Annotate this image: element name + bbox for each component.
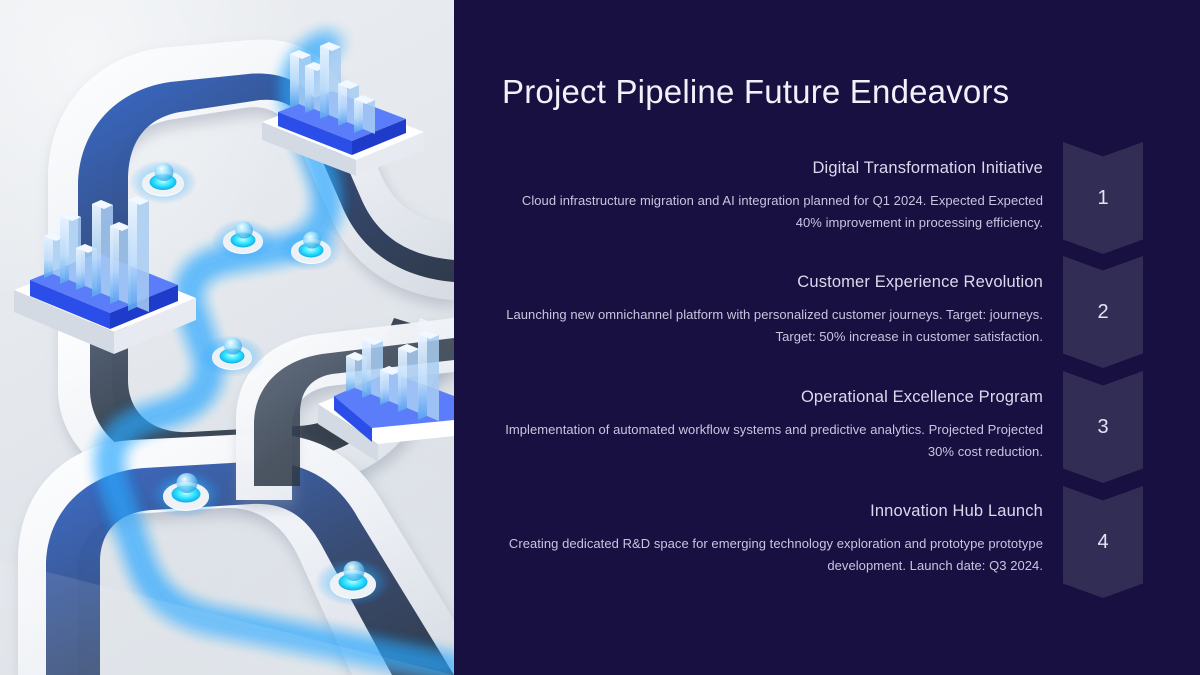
item-description: Implementation of automated workflow sys… [503, 419, 1043, 463]
slide-root: Project Pipeline Future Endeavors Digita… [0, 0, 1200, 675]
list-item: Customer Experience Revolution Launching… [503, 272, 1043, 348]
item-description: Creating dedicated R&D space for emergin… [503, 533, 1043, 577]
step-badge-3[interactable]: 3 [1063, 371, 1143, 483]
step-badge-2[interactable]: 2 [1063, 256, 1143, 368]
step-number: 3 [1097, 417, 1108, 437]
item-title: Customer Experience Revolution [503, 272, 1043, 292]
list-item: Operational Excellence Program Implement… [503, 387, 1043, 463]
pipeline-illustration [0, 0, 454, 675]
list-item: Innovation Hub Launch Creating dedicated… [503, 501, 1043, 577]
item-title: Digital Transformation Initiative [503, 158, 1043, 178]
step-number: 2 [1097, 302, 1108, 322]
step-number: 4 [1097, 532, 1108, 552]
step-number: 1 [1097, 188, 1108, 208]
item-title: Innovation Hub Launch [503, 501, 1043, 521]
bar-chart-platform-left [14, 196, 196, 354]
step-badge-4[interactable]: 4 [1063, 486, 1143, 598]
content-panel: Project Pipeline Future Endeavors Digita… [454, 0, 1200, 675]
page-title: Project Pipeline Future Endeavors [502, 73, 1009, 111]
item-title: Operational Excellence Program [503, 387, 1043, 407]
step-badge-1[interactable]: 1 [1063, 142, 1143, 254]
item-description: Launching new omnichannel platform with … [503, 304, 1043, 348]
item-description: Cloud infrastructure migration and AI in… [503, 190, 1043, 234]
list-item: Digital Transformation Initiative Cloud … [503, 158, 1043, 234]
